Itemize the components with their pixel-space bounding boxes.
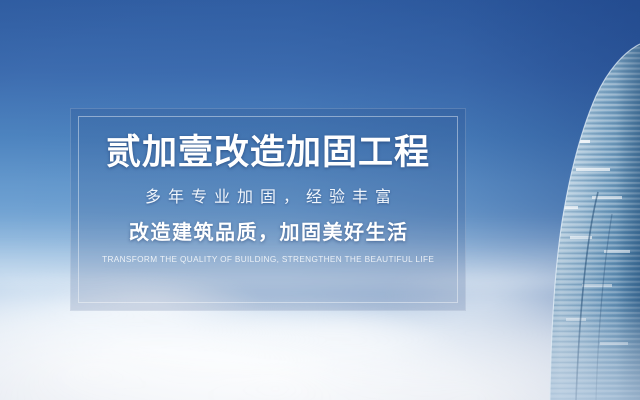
headline-title: 贰加壹改造加固工程	[106, 135, 430, 170]
hero-text-panel: 贰加壹改造加固工程 多年专业加固，经验丰富 改造建筑品质，加固美好生活 TRAN…	[70, 108, 466, 311]
hero-banner: 贰加壹改造加固工程 多年专业加固，经验丰富 改造建筑品质，加固美好生活 TRAN…	[0, 0, 640, 400]
tagline-slogan: 改造建筑品质，加固美好生活	[128, 223, 409, 243]
subtitle-experience: 多年专业加固，经验丰富	[138, 190, 398, 206]
skyscraper-illustration	[520, 0, 640, 400]
panel-content: 贰加壹改造加固工程 多年专业加固，经验丰富 改造建筑品质，加固美好生活 TRAN…	[71, 109, 465, 310]
english-slogan: TRANSFORM THE QUALITY OF BUILDING, STREN…	[102, 255, 434, 264]
